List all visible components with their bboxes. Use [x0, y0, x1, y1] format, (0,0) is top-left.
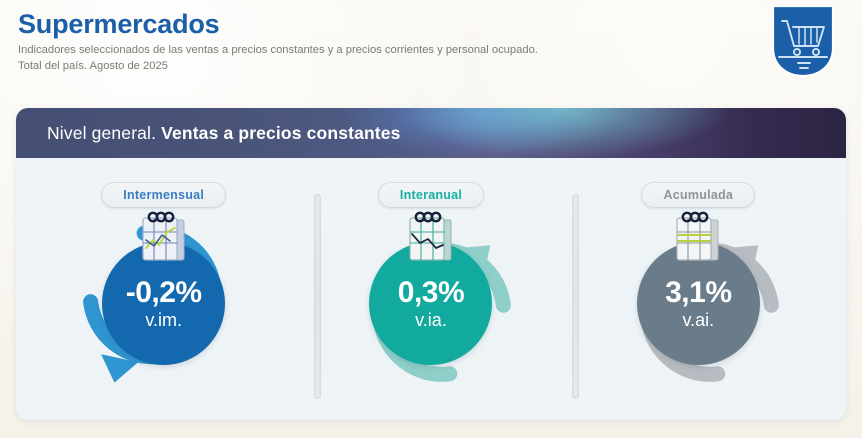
indicator-label-acumulada: Acumulada [641, 182, 755, 208]
indicator-unit-interanual: v.ia. [415, 311, 447, 329]
indicator-label-interanual: Interanual [378, 182, 484, 208]
panel-titlebar: Nivel general. Ventas a precios constant… [16, 108, 846, 158]
panel-body: Intermensual [16, 158, 846, 420]
indicator-unit-acumulada: v.ai. [682, 311, 714, 329]
brand-badge [769, 2, 837, 80]
gauge-interanual: 0,3% v.ia. [343, 216, 518, 391]
indicator-value-interanual: 0,3% [398, 278, 464, 308]
clipboard-chart-icon-acumulada [670, 210, 726, 270]
indicator-card-acumulada[interactable]: Acumulada [573, 158, 823, 391]
shopping-cart-icon [769, 2, 837, 80]
page-header: Supermercados Indicadores seleccionados … [18, 10, 718, 75]
indicator-label-intermensual: Intermensual [101, 182, 226, 208]
page-subtitle-line-2: Total del país. Agosto de 2025 [18, 59, 678, 75]
indicator-value-acumulada: 3,1% [665, 278, 731, 308]
clipboard-chart-icon-intermensual [136, 210, 192, 270]
page-title: Supermercados [18, 10, 718, 38]
page-subtitle: Indicadores seleccionados de las ventas … [18, 43, 678, 75]
panel-title-regular: Nivel general. [47, 123, 156, 143]
main-panel: Nivel general. Ventas a precios constant… [16, 108, 846, 420]
panel-title-bold: Ventas a precios constantes [161, 123, 400, 143]
page-subtitle-line-1: Indicadores seleccionados de las ventas … [18, 43, 678, 59]
indicator-card-interanual[interactable]: Interanual [306, 158, 556, 391]
panel-title: Nivel general. Ventas a precios constant… [47, 123, 401, 144]
gauge-intermensual: -0,2% v.im. [76, 216, 251, 391]
indicator-unit-intermensual: v.im. [145, 311, 182, 329]
gauge-acumulada: 3,1% v.ai. [611, 216, 786, 391]
clipboard-chart-icon-interanual [403, 210, 459, 270]
indicator-value-intermensual: -0,2% [126, 278, 202, 308]
indicator-card-intermensual[interactable]: Intermensual [39, 158, 289, 391]
